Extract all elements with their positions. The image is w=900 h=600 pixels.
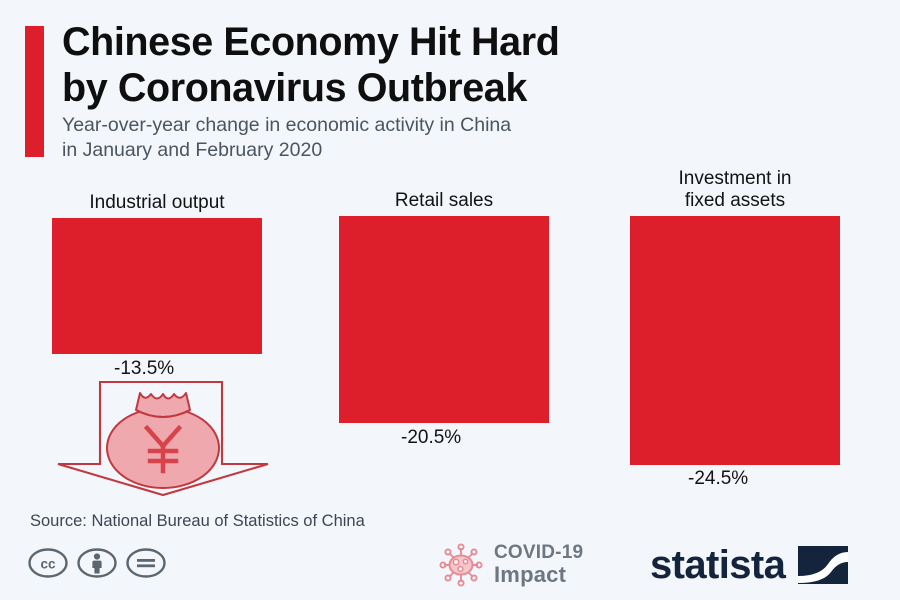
covid-impact-line-1: COVID-19 — [494, 543, 583, 563]
cc-icon[interactable]: cc — [28, 548, 68, 578]
covid-impact-badge: COVID-19 Impact — [437, 541, 583, 589]
bar-rect-industrial-output[interactable] — [52, 218, 262, 354]
statista-wordmark: statista — [650, 545, 785, 585]
covid-impact-text: COVID-19 Impact — [494, 543, 583, 586]
bar-label-industrial-output: Industrial output — [52, 192, 262, 214]
downward-arrow-money-bag-illustration — [52, 376, 276, 500]
creative-commons-icons: cc — [28, 548, 166, 578]
money-bag-icon — [107, 393, 219, 488]
bar-label-investment-fixed-assets: Investment in fixed assets — [620, 168, 850, 211]
bar-label-line-1: Investment in — [679, 168, 792, 189]
statista-logo[interactable]: statista — [650, 545, 848, 585]
statista-mark-icon — [798, 546, 848, 584]
cc-nd-equals-icon[interactable] — [126, 548, 166, 578]
covid-impact-line-2: Impact — [494, 563, 583, 586]
illustration-svg — [52, 376, 276, 500]
bar-value-investment-fixed-assets: -24.5% — [688, 468, 748, 490]
bar-rect-investment-fixed-assets[interactable] — [630, 216, 840, 465]
bar-rect-retail-sales[interactable] — [339, 216, 549, 423]
bar-group-investment-fixed-assets: Investment in fixed assets -24.5% — [630, 168, 840, 498]
bar-label-line-1: Retail sales — [395, 190, 493, 211]
bar-label-retail-sales: Retail sales — [339, 190, 549, 212]
infographic-root: Chinese Economy Hit Hard by Coronavirus … — [0, 0, 900, 600]
bar-label-line-2: fixed assets — [685, 190, 785, 211]
bar-chart: Industrial output -13.5% Retail sales -2… — [0, 0, 900, 600]
bar-group-retail-sales: Retail sales -20.5% — [339, 190, 549, 460]
coronavirus-icon — [437, 541, 485, 589]
source-text: Source: National Bureau of Statistics of… — [30, 512, 365, 531]
bar-value-retail-sales: -20.5% — [401, 427, 461, 449]
bar-label-line-1: Industrial output — [89, 192, 224, 213]
cc-by-person-icon[interactable] — [77, 548, 117, 578]
bar-group-industrial-output: Industrial output -13.5% — [52, 192, 262, 392]
svg-text:cc: cc — [40, 557, 56, 572]
